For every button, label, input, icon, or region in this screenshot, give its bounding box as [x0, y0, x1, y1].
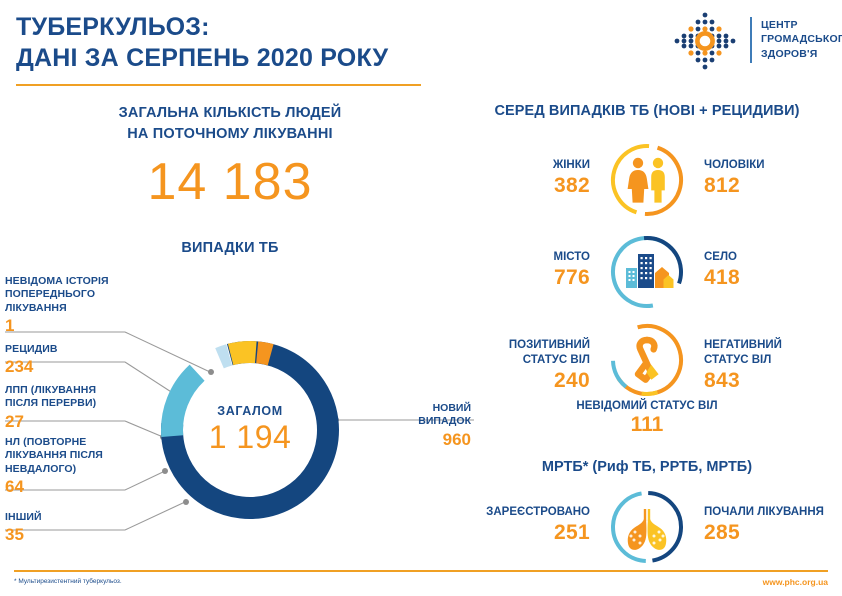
donut-center-text: ЗАГАЛОМ 1 194 [152, 332, 348, 528]
callout-nl: НЛ (ПОВТОРНЕ ЛІКУВАННЯ ПІСЛЯ НЕВДАЛОГО) … [5, 436, 155, 497]
total-treatment-heading: ЗАГАЛЬНА КІЛЬКІСТЬ ЛЮДЕЙ НА ПОТОЧНОМУ ЛІ… [30, 103, 430, 144]
stat-label: ЗАРЕЄСТРОВАНО [452, 505, 590, 520]
footer-divider [14, 570, 828, 572]
callout-other: ІНШИЙ 35 [5, 511, 155, 545]
stat-mdr-started: ПОЧАЛИ ЛІКУВАННЯ 285 [694, 505, 842, 545]
stat-value: 240 [452, 369, 590, 393]
page-title: ТУБЕРКУЛЬОЗ: ДАНІ ЗА СЕРПЕНЬ 2020 РОКУ [16, 12, 388, 73]
stat-city: МІСТО 776 [452, 250, 600, 290]
stat-row-hiv: ПОЗИТИВНИЙ СТАТУС ВІЛ 240 НЕГАТИВНИЙ СТА… [452, 320, 842, 400]
stat-value: 111 [452, 413, 842, 437]
callout-label: РЕЦИДИВ [5, 343, 155, 356]
infographic-page: ТУБЕРКУЛЬОЗ: ДАНІ ЗА СЕРПЕНЬ 2020 РОКУ [0, 0, 842, 596]
total-treatment-value: 14 183 [30, 152, 430, 212]
callout-value: 27 [5, 412, 155, 432]
ribbon-icon [607, 320, 687, 400]
stat-hiv-positive: ПОЗИТИВНИЙ СТАТУС ВІЛ 240 [452, 338, 600, 393]
stat-label: ЧОЛОВІКИ [704, 158, 842, 173]
lungs-icon [607, 487, 687, 567]
stat-row-gender: ЖІНКИ 382 ЧОЛОВІКИ 812 [452, 140, 842, 220]
callout-value: 35 [5, 525, 155, 545]
phc-logo-icon [672, 10, 738, 72]
callout-value: 234 [5, 357, 155, 377]
logo: ЦЕНТР ГРОМАДСЬКОГО ЗДОРОВ'Я [672, 10, 832, 72]
stat-value: 285 [704, 521, 842, 545]
logo-divider [750, 17, 752, 63]
callout-unknown-history: НЕВІДОМА ІСТОРІЯ ПОПЕРЕДНЬОГО ЛІКУВАННЯ … [5, 275, 155, 336]
stat-label: ПОЧАЛИ ЛІКУВАННЯ [704, 505, 842, 520]
title-divider [16, 84, 421, 86]
stat-row-place: МІСТО 776 СЕЛО 418 [452, 232, 842, 312]
stat-label: СЕЛО [704, 250, 842, 265]
city-village-icon [607, 232, 687, 312]
stat-value: 812 [704, 174, 842, 198]
stat-label: ЖІНКИ [452, 158, 590, 173]
stat-men: ЧОЛОВІКИ 812 [694, 158, 842, 198]
stat-label: ПОЗИТИВНИЙ СТАТУС ВІЛ [452, 338, 590, 368]
callout-relapse: РЕЦИДИВ 234 [5, 343, 155, 377]
tb-cases-donut-chart: ЗАГАЛОМ 1 194 [152, 332, 348, 528]
stat-value: 382 [452, 174, 590, 198]
stat-label: МІСТО [452, 250, 590, 265]
website-link[interactable]: www.phc.org.ua [763, 577, 828, 587]
donut-center-value: 1 194 [209, 419, 292, 456]
stat-women: ЖІНКИ 382 [452, 158, 600, 198]
stat-mdr-registered: ЗАРЕЄСТРОВАНО 251 [452, 505, 600, 545]
callout-label: ІНШИЙ [5, 511, 155, 524]
donut-center-label: ЗАГАЛОМ [217, 404, 282, 418]
stat-value: 843 [704, 369, 842, 393]
footnote: * Мультирезистентний туберкульоз. [14, 578, 122, 585]
callout-label: НЛ (ПОВТОРНЕ ЛІКУВАННЯ ПІСЛЯ НЕВДАЛОГО) [5, 436, 155, 476]
man-woman-icon [607, 140, 687, 220]
callout-label: ЛПП (ЛІКУВАННЯ ПІСЛЯ ПЕРЕРВИ) [5, 384, 155, 411]
logo-text: ЦЕНТР ГРОМАДСЬКОГО ЗДОРОВ'Я [761, 18, 842, 61]
right-column-heading: СЕРЕД ВИПАДКІВ ТБ (НОВІ + РЕЦИДИВИ) [452, 103, 842, 119]
stat-label: НЕГАТИВНИЙ СТАТУС ВІЛ [704, 338, 842, 368]
stat-row-mdr: ЗАРЕЄСТРОВАНО 251 ПОЧАЛИ ЛІКУВАННЯ 285 [452, 487, 842, 567]
stat-value: 418 [704, 266, 842, 290]
stat-hiv-negative: НЕГАТИВНИЙ СТАТУС ВІЛ 843 [694, 338, 842, 393]
stat-village: СЕЛО 418 [694, 250, 842, 290]
stat-value: 251 [452, 521, 590, 545]
stat-hiv-unknown: НЕВІДОМИЙ СТАТУС ВІЛ 111 [452, 400, 842, 437]
stat-value: 776 [452, 266, 590, 290]
callout-value: 64 [5, 477, 155, 497]
tb-cases-heading: ВИПАДКИ ТБ [30, 240, 430, 256]
mdr-heading: МРТБ* (Риф ТБ, РРТБ, МРТБ) [452, 459, 842, 475]
callout-lpp: ЛПП (ЛІКУВАННЯ ПІСЛЯ ПЕРЕРВИ) 27 [5, 384, 155, 432]
callout-value: 1 [5, 316, 155, 336]
callout-label: НЕВІДОМА ІСТОРІЯ ПОПЕРЕДНЬОГО ЛІКУВАННЯ [5, 275, 155, 315]
stat-label: НЕВІДОМИЙ СТАТУС ВІЛ [452, 400, 842, 412]
header: ТУБЕРКУЛЬОЗ: ДАНІ ЗА СЕРПЕНЬ 2020 РОКУ [0, 0, 842, 88]
